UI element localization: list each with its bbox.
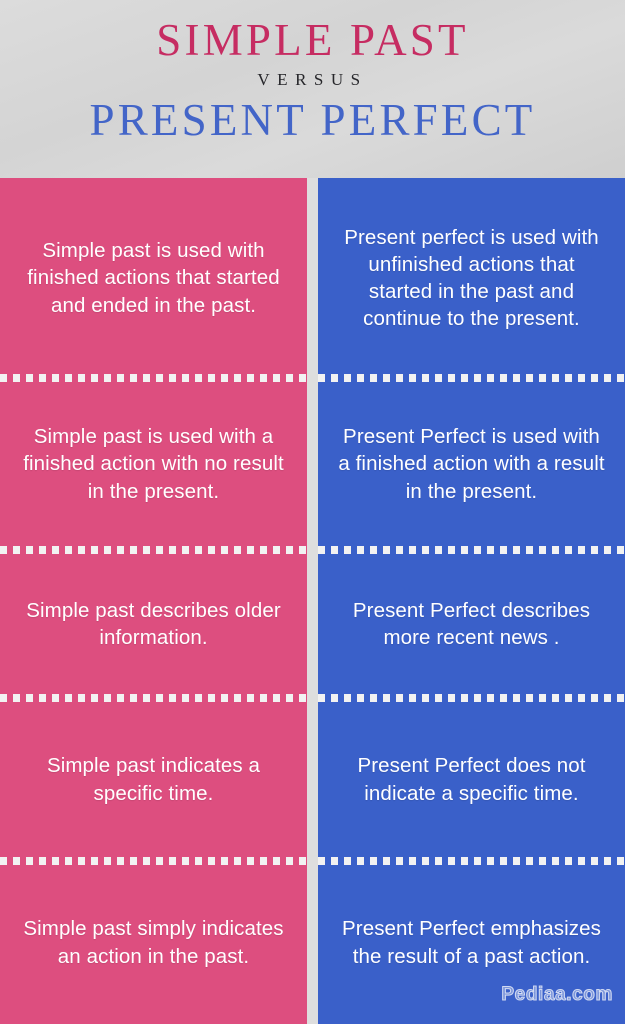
cell-right-4: Present Perfect does not indicate a spec… <box>318 698 625 861</box>
cell-left-3: Simple past describes older information. <box>0 550 307 698</box>
cell-right-5: Present Perfect emphasizes the result of… <box>318 861 625 1024</box>
column-divider <box>307 178 318 1024</box>
column-present-perfect: Present perfect is used with unfinished … <box>318 178 625 1024</box>
cell-right-2: Present Perfect is used with a finished … <box>318 378 625 550</box>
cell-left-2: Simple past is used with a finished acti… <box>0 378 307 550</box>
cell-right-3: Present Perfect describes more recent ne… <box>318 550 625 698</box>
cell-left-4: Simple past indicates a specific time. <box>0 698 307 861</box>
page-title: SIMPLE PAST <box>0 15 625 66</box>
infographic-root: SIMPLE PAST VERSUS PRESENT PERFECT Simpl… <box>0 0 625 1024</box>
cell-left-1: Simple past is used with finished action… <box>0 178 307 378</box>
comparison-table: Simple past is used with finished action… <box>0 178 625 1024</box>
cell-left-5: Simple past simply indicates an action i… <box>0 861 307 1024</box>
versus-label: VERSUS <box>0 70 625 90</box>
header: SIMPLE PAST VERSUS PRESENT PERFECT <box>0 0 625 178</box>
cell-right-1: Present perfect is used with unfinished … <box>318 178 625 378</box>
page-subtitle: PRESENT PERFECT <box>0 95 625 146</box>
column-simple-past: Simple past is used with finished action… <box>0 178 307 1024</box>
